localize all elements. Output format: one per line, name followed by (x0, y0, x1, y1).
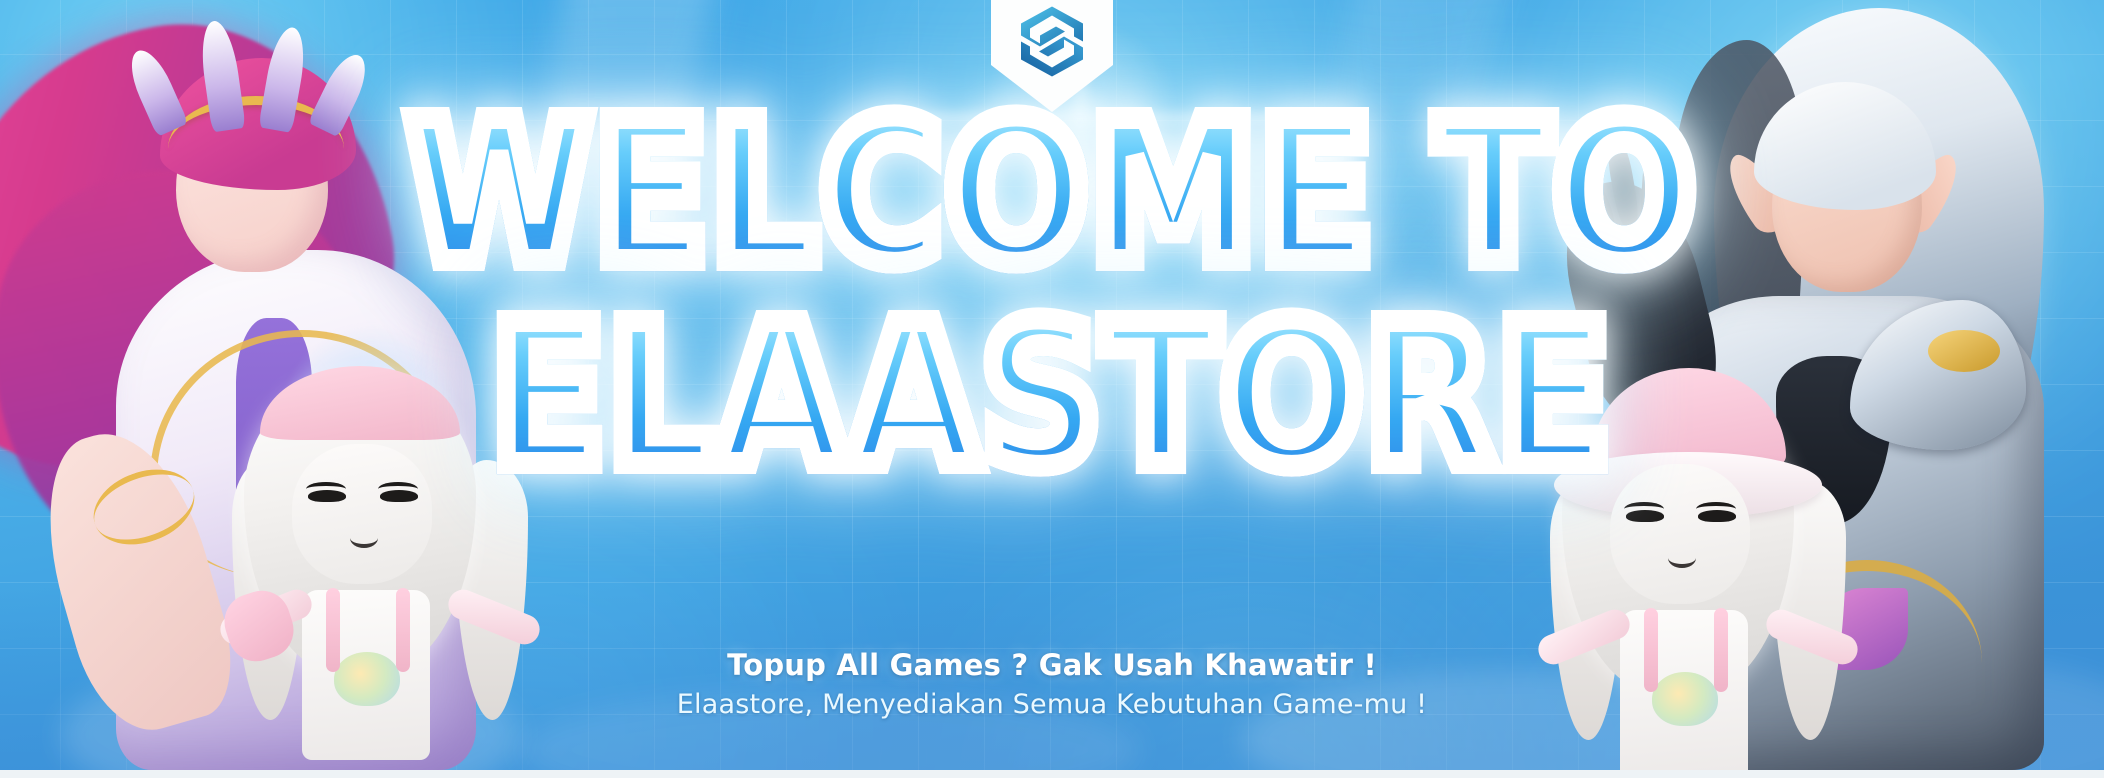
subtitle-secondary: Elaastore, Menyediakan Semua Kebutuhan G… (0, 689, 2104, 720)
headline-line-2: ELAASTORE (0, 303, 2104, 490)
subtitle-primary: Topup All Games ? Gak Usah Khawatir ! (0, 648, 2104, 682)
headline-line-1: WELCOME TO (0, 100, 2104, 287)
hero-banner[interactable]: WELCOME TO ELAASTORE Topup All Games ? G… (0, 0, 2104, 770)
screenshot-stage: WELCOME TO ELAASTORE Topup All Games ? G… (0, 0, 2104, 778)
elaastore-logo[interactable] (991, 0, 1113, 112)
page-background-strip (0, 770, 2104, 778)
banner-headline: WELCOME TO ELAASTORE (0, 100, 2104, 465)
banner-subtitle: Topup All Games ? Gak Usah Khawatir ! El… (0, 648, 2104, 720)
elaastore-hexagon-monogram-logo-icon (1016, 4, 1088, 85)
